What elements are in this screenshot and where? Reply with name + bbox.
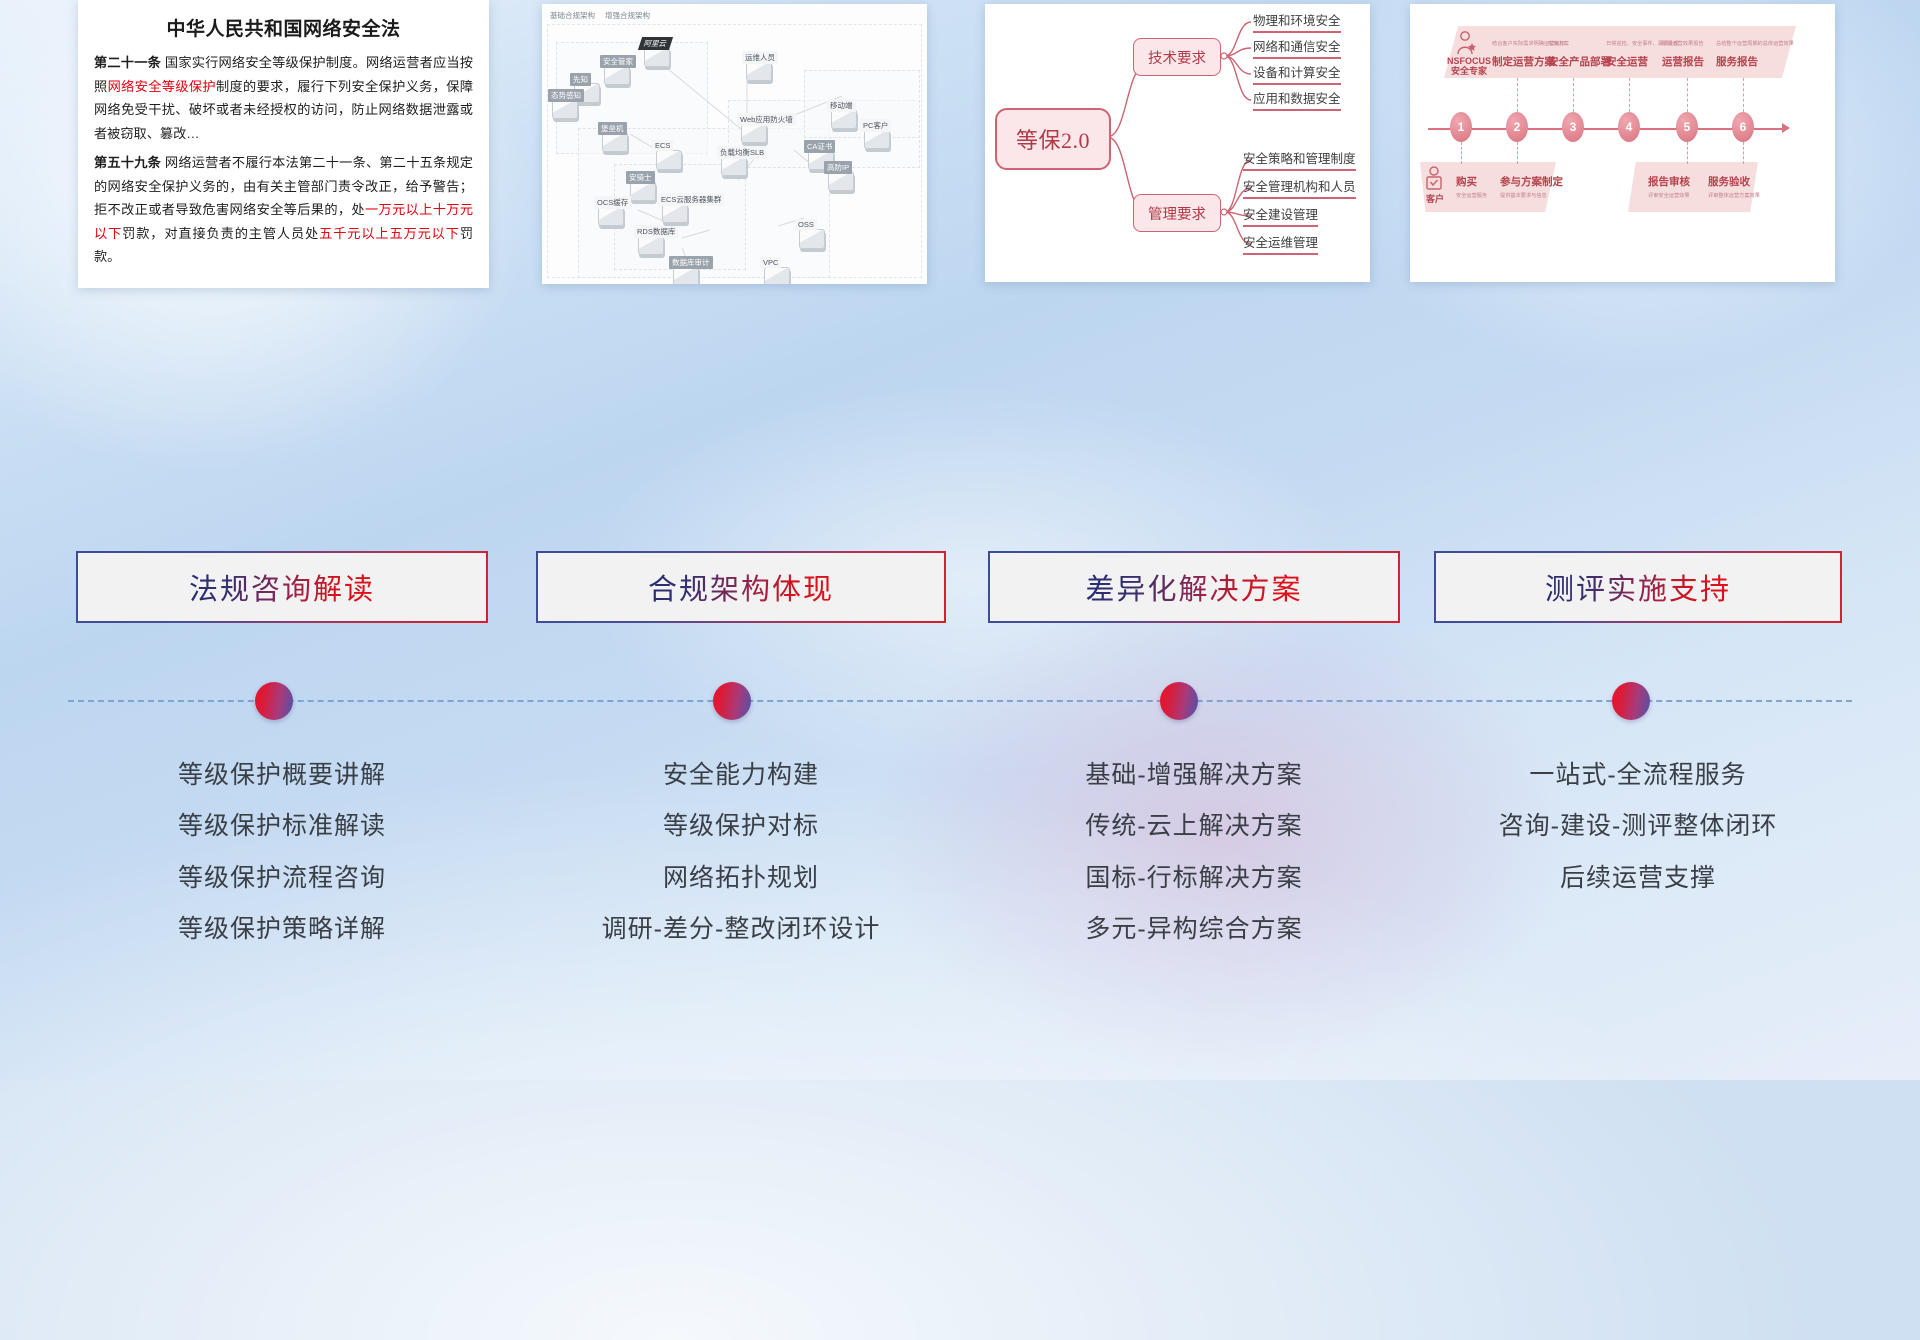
timeline-customer-step-subtitle: 评审安全运营效果 xyxy=(1648,192,1690,199)
architecture-node: 高防IP xyxy=(824,162,854,191)
bullet-item: 基础-增强解决方案 xyxy=(988,750,1400,801)
architecture-node: Web应用防火墙 xyxy=(737,114,767,143)
timeline-role-expert: NSFOCUS安全专家 xyxy=(1446,56,1492,77)
bullet-item: 等级保护概要讲解 xyxy=(76,750,488,801)
mindmap: 等保2.0 技术要求 管理要求 物理和环境安全 网络和通信安全 设备和计算安全 … xyxy=(985,4,1370,282)
thumbnail-card-cloud-architecture[interactable]: 基础合规架构 增强合规架构 xyxy=(542,4,927,284)
timeline-step-node-4: 4 xyxy=(1618,112,1640,142)
timeline-dashed-line xyxy=(68,700,1852,702)
timeline-provider-step-title: 服务报告 xyxy=(1716,54,1758,69)
architecture-node-label: 堡垒机 xyxy=(598,122,627,135)
architecture-node: 运维人员 xyxy=(742,52,772,81)
timeline-dash-up xyxy=(1743,78,1745,112)
bullet-column-3: 基础-增强解决方案传统-云上解决方案国标-行标解决方案多元-异构综合方案 xyxy=(988,750,1400,955)
timeline-step-node-3: 3 xyxy=(1562,112,1584,142)
architecture-node-label: 移动端 xyxy=(827,99,856,112)
architecture-node-shape xyxy=(746,61,772,81)
timeline-marker-dot-4[interactable] xyxy=(1612,682,1650,720)
architecture-node-shape xyxy=(552,99,578,119)
architecture-node: ECS xyxy=(652,141,682,170)
architecture-node-label: 数据库审计 xyxy=(669,256,713,269)
architecture-node-shape xyxy=(630,181,656,201)
thumbnail-card-cybersecurity-law[interactable]: 中华人民共和国网络安全法 第二十一条 国家实行网络安全等级保护制度。网络运营者应… xyxy=(78,0,489,288)
timeline-arrow-icon xyxy=(1782,123,1790,133)
architecture-node-shape xyxy=(764,267,790,284)
architecture-node-label: ECS xyxy=(652,140,673,151)
architecture-node-shape xyxy=(598,206,624,226)
timeline-customer-step-subtitle: 提供基本要求与信息 xyxy=(1500,192,1547,199)
bullet-item: 网络拓扑规划 xyxy=(536,853,946,904)
timeline-customer-step-title: 报告审核 xyxy=(1648,174,1690,189)
architecture-node: ECS云服务器集群 xyxy=(658,194,688,223)
architecture-node-label: 高防IP xyxy=(824,161,852,174)
timeline-dash-up xyxy=(1687,78,1689,112)
timeline-band-provider xyxy=(1444,26,1796,78)
timeline-step-node-2: 2 xyxy=(1506,112,1528,142)
timeline-role-customer: 客户 xyxy=(1420,194,1450,204)
mindmap-leaf: 设备和计算安全 xyxy=(1253,62,1341,85)
timeline-customer-step-title: 参与方案制定 xyxy=(1500,174,1563,189)
architecture-node: 态势感知 xyxy=(548,90,578,119)
architecture-node-shape xyxy=(604,65,630,85)
bullet-column-4: 一站式-全流程服务咨询-建设-测评整体闭环后续运营支撑 xyxy=(1434,750,1842,904)
pill-label: 差异化解决方案 xyxy=(1085,566,1302,608)
timeline-marker-dot-1[interactable] xyxy=(255,682,293,720)
architecture-node-label: VPC xyxy=(760,257,781,268)
bullet-column-1: 等级保护概要讲解等级保护标准解读等级保护流程咨询等级保护策略详解 xyxy=(76,750,488,955)
law-article-21-label: 第二十一条 xyxy=(94,55,161,70)
mindmap-leaf: 安全建设管理 xyxy=(1243,204,1318,227)
timeline-provider-step-subtitle: 实施方案 xyxy=(1548,40,1569,47)
bullet-item: 等级保护标准解读 xyxy=(76,801,488,852)
timeline-customer-step-title: 购买 xyxy=(1456,174,1477,189)
thumbnail-card-dengbao-mindmap[interactable]: 等保2.0 技术要求 管理要求 物理和环境安全 网络和通信安全 设备和计算安全 … xyxy=(985,4,1370,282)
law-article-21-paragraph: 第二十一条 国家实行网络安全等级保护制度。网络运营者应当按照网络安全等级保护制度… xyxy=(94,51,473,145)
timeline-provider-step-subtitle: 阶段运营效果报告 xyxy=(1662,40,1704,47)
architecture-node-label: PC客户 xyxy=(860,119,891,132)
bullet-item: 安全能力构建 xyxy=(536,750,946,801)
headline-pill-regulation-consulting[interactable]: 法规咨询解读 xyxy=(76,551,488,623)
architecture-node-shape xyxy=(741,123,767,143)
headline-pill-differentiated-solution[interactable]: 差异化解决方案 xyxy=(988,551,1400,623)
architecture-node: VPC xyxy=(760,258,790,284)
architecture-node-label: 负载均衡SLB xyxy=(717,146,767,159)
thumbnail-card-service-timeline[interactable]: NSFOCUS安全专家 客户 123456 制定运营方案结合客户实际需求明确运营… xyxy=(1410,4,1835,282)
architecture-node: 移动端 xyxy=(827,100,857,129)
mindmap-leaf: 安全运维管理 xyxy=(1243,232,1318,255)
timeline-provider-step-title: 安全产品部署 xyxy=(1548,54,1611,69)
mindmap-leaf: 网络和通信安全 xyxy=(1253,36,1341,59)
architecture-node-label: RDS数据库 xyxy=(634,225,678,238)
timeline-dash-down xyxy=(1517,142,1519,164)
service-timeline: NSFOCUS安全专家 客户 123456 制定运营方案结合客户实际需求明确运营… xyxy=(1410,4,1835,282)
architecture-node: 数据库审计 xyxy=(669,257,699,284)
pill-label: 法规咨询解读 xyxy=(189,566,375,608)
architecture-diagram: 基础合规架构 增强合规架构 xyxy=(542,4,927,284)
timeline-axis xyxy=(1428,128,1784,130)
timeline-provider-step-title: 制定运营方案 xyxy=(1492,54,1555,69)
architecture-node-shape xyxy=(644,47,670,67)
timeline-provider-step-title: 安全运营 xyxy=(1606,54,1648,69)
timeline-customer-step-subtitle: 安全运营服务 xyxy=(1456,192,1487,199)
mindmap-branch-technical: 技术要求 xyxy=(1133,38,1221,76)
mindmap-leaf: 安全管理机构和人员 xyxy=(1243,176,1356,199)
architecture-node: 阿里云 xyxy=(640,38,670,67)
architecture-node-label: 运维人员 xyxy=(742,51,778,64)
timeline-step-node-1: 1 xyxy=(1450,112,1472,142)
pill-label: 合规架构体现 xyxy=(648,566,834,608)
bullet-item: 调研-差分-整改闭环设计 xyxy=(536,904,946,955)
architecture-node-label: OCS缓存 xyxy=(594,196,631,209)
mindmap-leaf: 安全策略和管理制度 xyxy=(1243,148,1356,171)
bullet-item: 国标-行标解决方案 xyxy=(988,853,1400,904)
timeline-dash-down xyxy=(1461,142,1463,164)
timeline-step-node-6: 6 xyxy=(1732,112,1754,142)
bullet-column-2: 安全能力构建等级保护对标网络拓扑规划调研-差分-整改闭环设计 xyxy=(536,750,946,955)
mindmap-branch-management: 管理要求 xyxy=(1133,194,1221,232)
architecture-node-label: Web应用防火墙 xyxy=(737,113,796,126)
architecture-node: PC客户 xyxy=(860,120,890,149)
pill-label: 测评实施支持 xyxy=(1545,566,1731,608)
timeline-dash-up xyxy=(1629,78,1631,112)
architecture-node-shape xyxy=(662,203,688,223)
mindmap-root-node: 等保2.0 xyxy=(995,108,1111,170)
architecture-node-shape xyxy=(831,109,857,129)
law-article-59-text-b: 罚款，对直接负责的主管人员处 xyxy=(122,226,319,241)
architecture-node: 安全管家 xyxy=(600,56,630,85)
architecture-node-label: 态势感知 xyxy=(548,89,584,102)
timeline-dash-down xyxy=(1743,142,1745,164)
architecture-node-shape xyxy=(864,129,890,149)
timeline-dash-up xyxy=(1573,78,1575,112)
architecture-node-label: 先知 xyxy=(570,73,591,86)
mindmap-leaf: 物理和环境安全 xyxy=(1253,10,1341,33)
architecture-node: 负载均衡SLB xyxy=(717,147,747,176)
timeline-dash-up xyxy=(1517,78,1519,112)
architecture-node-shape xyxy=(638,235,664,255)
headline-pill-assessment-support[interactable]: 测评实施支持 xyxy=(1434,551,1842,623)
architecture-node-label: 安骑士 xyxy=(626,171,655,184)
law-article-59-paragraph: 第五十九条 网络运营者不履行本法第二十一条、第二十五条规定的网络安全保护义务的，… xyxy=(94,151,473,269)
timeline-marker-dot-3[interactable] xyxy=(1160,682,1198,720)
architecture-node-shape xyxy=(799,229,825,249)
customer-icon xyxy=(1424,166,1446,192)
architecture-node: 堡垒机 xyxy=(598,123,628,152)
architecture-node-label: 安全管家 xyxy=(600,55,636,68)
bullet-item: 传统-云上解决方案 xyxy=(988,801,1400,852)
architecture-node-label: ECS云服务器集群 xyxy=(658,193,724,206)
bullet-item: 后续运营支撑 xyxy=(1434,853,1842,904)
law-article-21-highlight: 网络安全等级保护 xyxy=(108,79,216,94)
bullet-item: 咨询-建设-测评整体闭环 xyxy=(1434,801,1842,852)
bullet-item: 等级保护策略详解 xyxy=(76,904,488,955)
architecture-node-shape xyxy=(721,156,747,176)
architecture-node-shape xyxy=(602,132,628,152)
bullet-item: 等级保护流程咨询 xyxy=(76,853,488,904)
timeline-step-node-5: 5 xyxy=(1676,112,1698,142)
architecture-node-shape xyxy=(656,150,682,170)
headline-pill-compliance-architecture[interactable]: 合规架构体现 xyxy=(536,551,946,623)
law-article-59-highlight-b: 五千元以上五万元以下 xyxy=(319,226,460,241)
architecture-node: RDS数据库 xyxy=(634,226,664,255)
law-document-title: 中华人民共和国网络安全法 xyxy=(94,14,473,41)
architecture-node: OCS缓存 xyxy=(594,197,624,226)
timeline-marker-dot-2[interactable] xyxy=(713,682,751,720)
architecture-node-label: OSS xyxy=(795,219,817,230)
architecture-node-shape xyxy=(828,171,854,191)
timeline-provider-step-subtitle: 总结整个运营周期的总体运营效果 xyxy=(1716,40,1794,47)
security-expert-icon xyxy=(1454,30,1478,56)
architecture-node: OSS xyxy=(795,220,825,249)
timeline-customer-step-subtitle: 评审整体运营方案效果 xyxy=(1708,192,1760,199)
slide-stage: 中华人民共和国网络安全法 第二十一条 国家实行网络安全等级保护制度。网络运营者应… xyxy=(0,0,1920,1080)
timeline-provider-step-title: 运营报告 xyxy=(1662,54,1704,69)
law-article-59-label: 第五十九条 xyxy=(94,155,161,170)
bullet-item: 一站式-全流程服务 xyxy=(1434,750,1842,801)
architecture-node-label: CA证书 xyxy=(804,140,835,153)
bullet-item: 多元-异构综合方案 xyxy=(988,904,1400,955)
architecture-node-label: 阿里云 xyxy=(638,37,673,50)
timeline-customer-step-title: 服务验收 xyxy=(1708,174,1750,189)
bullet-item: 等级保护对标 xyxy=(536,801,946,852)
mindmap-leaf: 应用和数据安全 xyxy=(1253,88,1341,111)
timeline-dash-down xyxy=(1687,142,1689,164)
